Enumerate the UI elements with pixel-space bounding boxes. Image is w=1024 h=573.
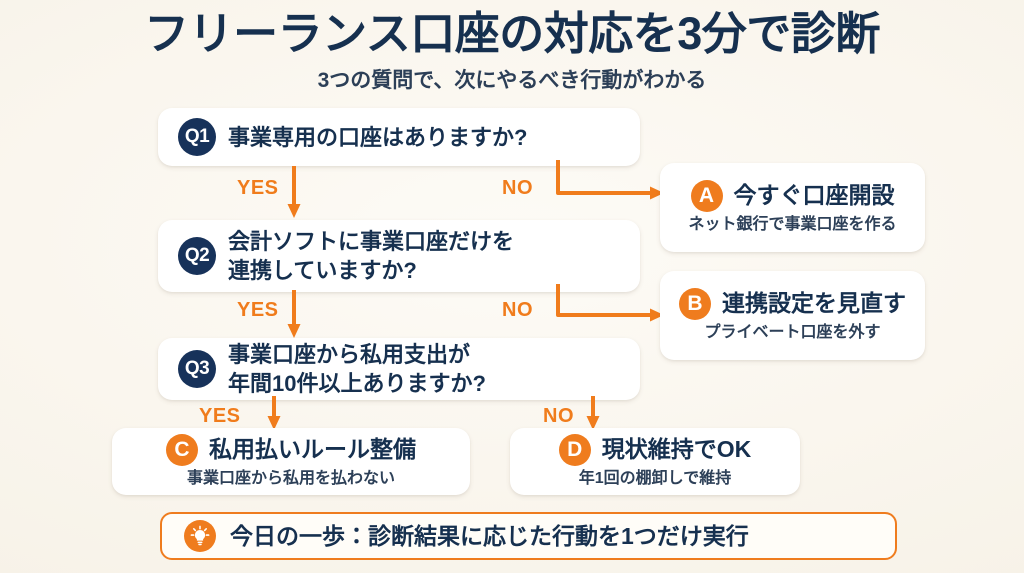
q2-no-label: NO xyxy=(502,300,533,320)
q1-yes-arrow xyxy=(286,166,312,220)
answer-card-c[interactable]: C 私用払いルール整備 事業口座から私用を払わない xyxy=(112,428,470,495)
question-card-q2[interactable]: Q2 会計ソフトに事業口座だけを 連携していますか? xyxy=(158,220,640,292)
infographic-canvas: フリーランス口座の対応を3分で診断 3つの質問で、次にやるべき行動がわかる Q1… xyxy=(0,0,1024,573)
answer-c-head: C 私用払いルール整備 xyxy=(166,434,416,466)
answer-a-head: A 今すぐ口座開設 xyxy=(691,180,895,212)
answer-b-title: 連携設定を見直す xyxy=(722,289,906,318)
page-title: フリーランス口座の対応を3分で診断 xyxy=(0,6,1024,62)
answer-a-badge: A xyxy=(691,180,723,212)
q3-text: 事業口座から私用支出が 年間10件以上ありますか? xyxy=(228,340,486,398)
answer-c-subtitle: 事業口座から私用を払わない xyxy=(187,468,395,490)
q3-content: Q3 事業口座から私用支出が 年間10件以上ありますか? xyxy=(158,340,486,398)
q2-content: Q2 会計ソフトに事業口座だけを 連携していますか? xyxy=(158,227,514,285)
answer-d-subtitle: 年1回の棚卸しで維持 xyxy=(579,468,731,490)
q1-yes-label: YES xyxy=(237,178,279,198)
page-subtitle: 3つの質問で、次にやるべき行動がわかる xyxy=(0,66,1024,96)
answer-card-a[interactable]: A 今すぐ口座開設 ネット銀行で事業口座を作る xyxy=(660,163,925,252)
q3-no-arrow xyxy=(585,396,611,432)
q2-no-arrow xyxy=(548,284,668,334)
answer-a-title: 今すぐ口座開設 xyxy=(734,181,895,210)
footer-text: 今日の一歩：診断結果に応じた行動を1つだけ実行 xyxy=(230,521,749,551)
answer-b-badge: B xyxy=(679,288,711,320)
answer-d-badge: D xyxy=(559,434,591,466)
q2-yes-arrow xyxy=(286,290,312,340)
answer-card-d[interactable]: D 現状維持でOK 年1回の棚卸しで維持 xyxy=(510,428,800,495)
q3-no-label: NO xyxy=(543,406,574,426)
q2-text: 会計ソフトに事業口座だけを 連携していますか? xyxy=(228,227,514,285)
q1-text: 事業専用の口座はありますか? xyxy=(228,123,527,152)
q3-yes-label: YES xyxy=(199,406,241,426)
answer-b-head: B 連携設定を見直す xyxy=(679,288,906,320)
q1-no-label: NO xyxy=(502,178,533,198)
answer-c-badge: C xyxy=(166,434,198,466)
question-card-q3[interactable]: Q3 事業口座から私用支出が 年間10件以上ありますか? xyxy=(158,338,640,400)
lightbulb-icon xyxy=(184,520,216,552)
q1-content: Q1 事業専用の口座はありますか? xyxy=(158,118,527,156)
answer-b-subtitle: プライベート口座を外す xyxy=(704,322,880,344)
q1-badge: Q1 xyxy=(178,118,216,156)
q1-no-arrow xyxy=(548,160,668,212)
q3-yes-arrow xyxy=(266,396,292,432)
answer-d-title: 現状維持でOK xyxy=(602,435,752,464)
answer-d-head: D 現状維持でOK xyxy=(559,434,752,466)
q3-badge: Q3 xyxy=(178,350,216,388)
question-card-q1[interactable]: Q1 事業専用の口座はありますか? xyxy=(158,108,640,166)
answer-a-subtitle: ネット銀行で事業口座を作る xyxy=(688,214,896,236)
answer-card-b[interactable]: B 連携設定を見直す プライベート口座を外す xyxy=(660,271,925,360)
answer-c-title: 私用払いルール整備 xyxy=(209,435,416,464)
q2-badge: Q2 xyxy=(178,237,216,275)
footer-callout[interactable]: 今日の一歩：診断結果に応じた行動を1つだけ実行 xyxy=(160,512,897,560)
q2-yes-label: YES xyxy=(237,300,279,320)
